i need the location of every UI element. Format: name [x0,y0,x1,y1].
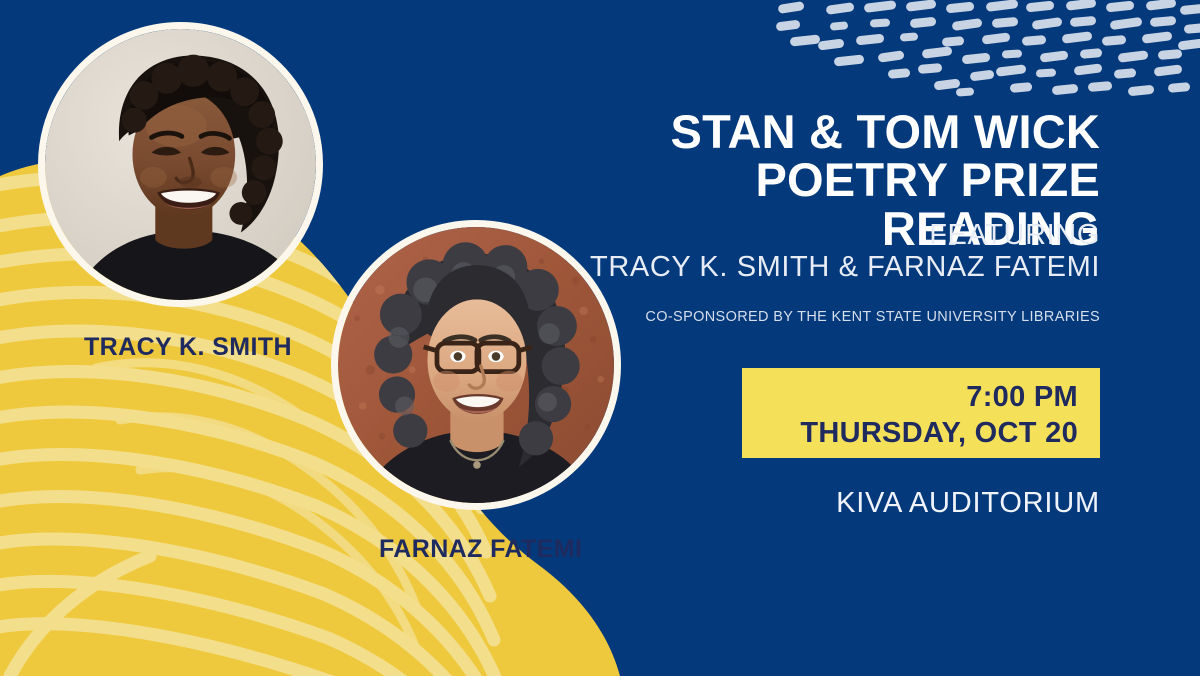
cosponsor-text: CO-SPONSORED BY THE KENT STATE UNIVERSIT… [560,309,1100,325]
featuring-label: FEATURING [560,219,1100,252]
event-datetime-block: 7:00 PM THURSDAY, OCT 20 [742,368,1100,458]
portrait-tracy-k-smith [38,22,323,307]
featuring-names: TRACY K. SMITH & FARNAZ FATEMI [560,251,1100,284]
event-time: 7:00 PM [742,379,1078,415]
event-date: THURSDAY, OCT 20 [742,415,1078,451]
poster-text-column: STAN & TOM WICK POETRY PRIZE READING FEA… [560,0,1100,676]
event-venue: KIVA AUDITORIUM [560,487,1100,520]
event-poster: TRACY K. SMITH FARNAZ FATEMI STAN & TOM … [0,0,1200,676]
portrait-caption-farnaz: FARNAZ FATEMI [379,535,582,564]
headline-line-1: STAN & TOM WICK [671,105,1100,158]
portrait-caption-tracy: TRACY K. SMITH [84,333,292,362]
